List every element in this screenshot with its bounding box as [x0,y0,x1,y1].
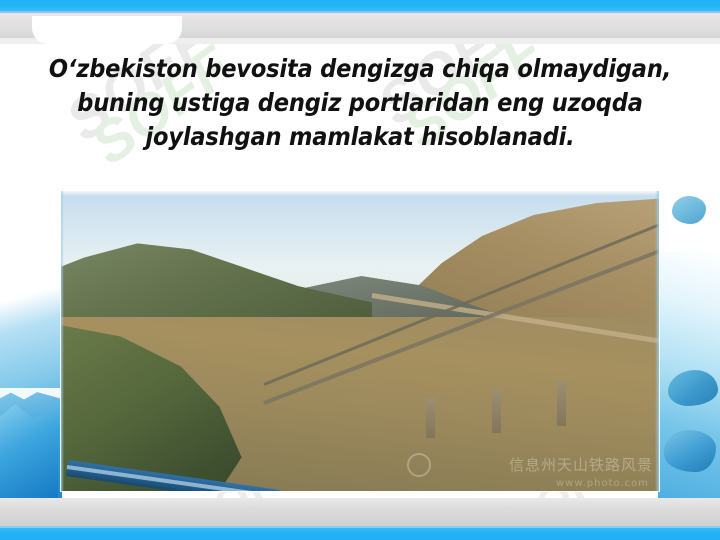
footer-gray-band [0,498,720,528]
presentation-slide: SOFF SOFF SOFF SOFF SOFF SOFF O‘zbekisto… [0,0,720,540]
photo-edge-left [61,191,64,491]
bottom-accent-bar [0,528,720,540]
slide-photo: 信息州天山铁路风景 www.photo.com [61,191,659,491]
photo-edge-right [655,191,659,491]
blue-wave-accent-left [0,388,60,414]
slide-title: O‘zbekiston bevosita dengizga chiqa olma… [18,52,702,154]
top-accent-bar [0,0,720,11]
title-line-3: joylashgan mamlakat hisoblanadi. [45,120,674,154]
top-accent-bar-highlight [0,11,720,13]
blue-water-graphic-right [658,252,720,500]
white-rounded-tab [32,12,182,44]
photo-watermark-line-2: www.photo.com [556,478,649,489]
photo-bridge-pylon [557,380,566,426]
title-line-1: O‘zbekiston bevosita dengizga chiqa olma… [45,52,674,86]
header-pink-rule [0,13,720,16]
photo-bridge-pylon [492,389,501,433]
photo-watermark-logo-icon [407,453,431,477]
photo-bridge-pylon [426,398,435,438]
blue-splash-right-upper [668,370,718,406]
title-line-2: buning ustiga dengiz portlaridan eng uzo… [45,86,674,120]
blue-water-graphic-left [0,255,62,500]
photo-watermark-line-1: 信息州天山铁路风景 [509,454,653,475]
blue-splash-right-lower [664,430,716,472]
blue-splash-left [0,398,58,500]
photo-top-glare [61,191,659,196]
blue-droplet-top-right [672,196,706,224]
